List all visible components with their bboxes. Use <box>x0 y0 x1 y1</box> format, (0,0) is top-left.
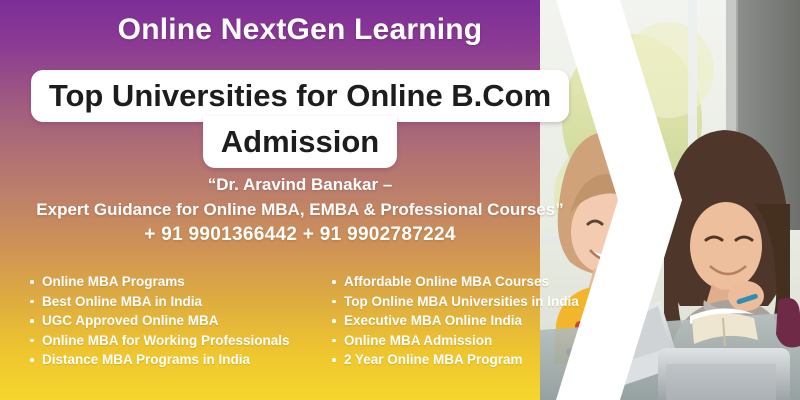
headline-line-2: Admission <box>203 116 397 168</box>
bullet-column-right: Affordable Online MBA Courses Top Online… <box>316 272 608 370</box>
promo-banner: Online NextGen Learning Top Universities… <box>0 0 800 400</box>
list-item: Affordable Online MBA Courses <box>330 272 608 292</box>
laptop-front <box>658 348 790 400</box>
headline-block: Top Universities for Online B.Com Admiss… <box>0 70 600 168</box>
list-item: Best Online MBA in India <box>28 292 306 312</box>
list-item: Top Online MBA Universities in India <box>330 292 608 312</box>
keyword-bullets: Online MBA Programs Best Online MBA in I… <box>28 272 608 370</box>
list-item: 2 Year Online MBA Program <box>330 350 608 370</box>
list-item: Online MBA for Working Professionals <box>28 331 306 351</box>
brand-title: Online NextGen Learning <box>0 12 600 48</box>
list-item: UGC Approved Online MBA <box>28 311 306 331</box>
bullet-column-left: Online MBA Programs Best Online MBA in I… <box>28 272 306 370</box>
list-item: Distance MBA Programs in India <box>28 350 306 370</box>
expert-quote: “Dr. Aravind Banakar – Expert Guidance f… <box>0 172 600 222</box>
contact-phone-numbers[interactable]: + 91 9901366442 + 91 9902787224 <box>0 224 600 246</box>
list-item: Online MBA Admission <box>330 331 608 351</box>
list-item: Online MBA Programs <box>28 272 306 292</box>
expert-quote-line-1: “Dr. Aravind Banakar – <box>0 172 600 197</box>
expert-quote-line-2: Expert Guidance for Online MBA, EMBA & P… <box>0 197 600 222</box>
headline-line-1: Top Universities for Online B.Com <box>31 70 569 122</box>
list-item: Executive MBA Online India <box>330 311 608 331</box>
